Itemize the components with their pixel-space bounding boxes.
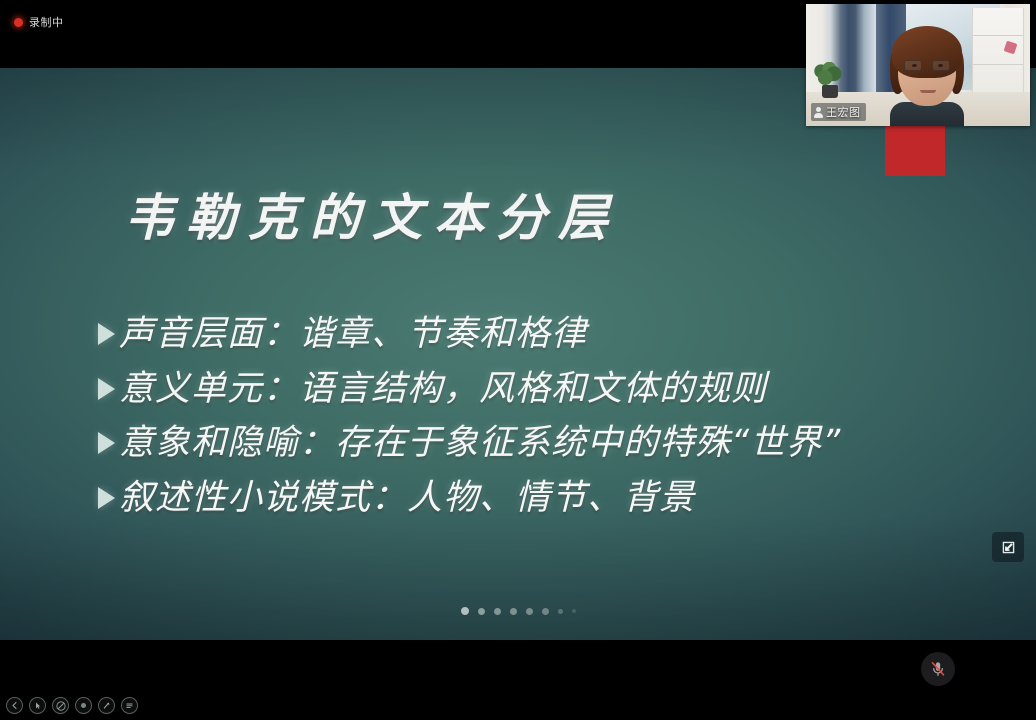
person-eye xyxy=(912,64,917,67)
microphone-muted-icon xyxy=(928,659,948,679)
shelf-decor xyxy=(972,8,1024,94)
bullet-text: 意象和隐喻：存在于象征系统中的特殊“世界” xyxy=(119,420,841,467)
triangle-right-icon xyxy=(98,323,115,345)
recording-indicator: 录制中 xyxy=(14,14,64,30)
shelf-item-decor xyxy=(1004,41,1018,55)
pen-icon xyxy=(56,701,66,711)
list-item: 声音层面：谐章、节奏和格律 xyxy=(98,311,858,358)
recording-dot-icon xyxy=(14,18,23,27)
expand-view-button[interactable] xyxy=(992,532,1024,562)
page-dot[interactable] xyxy=(526,608,533,615)
list-item: 意义单元：语言结构，风格和文体的规则 xyxy=(98,366,858,413)
menu-icon xyxy=(125,701,134,710)
arrow-left-icon xyxy=(10,701,19,710)
participant-name: 王宏图 xyxy=(826,104,861,120)
list-item: 意象和隐喻：存在于象征系统中的特殊“世界” xyxy=(98,420,858,467)
page-dot[interactable] xyxy=(558,609,563,614)
triangle-right-icon xyxy=(98,432,115,454)
slide-title: 韦勒克的文本分层 xyxy=(124,178,744,250)
pointer-icon xyxy=(33,701,42,710)
page-dot[interactable] xyxy=(461,607,469,615)
page-dot[interactable] xyxy=(542,608,549,615)
page-dot[interactable] xyxy=(494,608,501,615)
bullet-text: 叙述性小说模式：人物、情节、背景 xyxy=(119,475,695,522)
triangle-right-icon xyxy=(98,378,115,400)
person-mouth xyxy=(920,90,936,93)
page-dot[interactable] xyxy=(510,608,517,615)
red-annotation-block xyxy=(885,126,945,176)
expand-arrow-icon xyxy=(1000,539,1017,556)
bottom-bar xyxy=(0,640,1036,720)
more-button[interactable] xyxy=(121,697,138,714)
participant-video-tile[interactable]: 王宏图 xyxy=(806,4,1030,126)
person-icon xyxy=(814,107,823,118)
bullet-text: 声音层面：谐章、节奏和格律 xyxy=(119,311,587,358)
bullet-text: 意义单元：语言结构，风格和文体的规则 xyxy=(119,366,767,413)
annotation-toolbar[interactable] xyxy=(6,697,138,714)
eraser-icon xyxy=(79,701,88,710)
person-eye xyxy=(938,64,943,67)
slide-page-indicator[interactable] xyxy=(0,607,1036,615)
laser-icon xyxy=(102,701,111,710)
presentation-slide[interactable]: 韦勒克的文本分层 声音层面：谐章、节奏和格律 意义单元：语言结构，风格和文体的规… xyxy=(0,68,1036,640)
pointer-button[interactable] xyxy=(29,697,46,714)
plant-pot-decor xyxy=(822,85,838,98)
slide-bullet-list: 声音层面：谐章、节奏和格律 意义单元：语言结构，风格和文体的规则 意象和隐喻：存… xyxy=(98,311,858,529)
meeting-screen-share-view: 录制中 韦勒克的文本分层 声音层面：谐章、节奏和格律 意义单元：语言结构，风格和… xyxy=(0,0,1036,720)
participant-name-badge: 王宏图 xyxy=(811,103,866,121)
page-dot[interactable] xyxy=(478,608,485,615)
microphone-button[interactable] xyxy=(921,652,955,686)
recording-label: 录制中 xyxy=(29,14,64,30)
list-item: 叙述性小说模式：人物、情节、背景 xyxy=(98,475,858,522)
annotate-button[interactable] xyxy=(52,697,69,714)
glasses-icon xyxy=(904,60,950,72)
page-dot[interactable] xyxy=(572,609,576,613)
eraser-button[interactable] xyxy=(75,697,92,714)
triangle-right-icon xyxy=(98,487,115,509)
laser-button[interactable] xyxy=(98,697,115,714)
back-button[interactable] xyxy=(6,697,23,714)
